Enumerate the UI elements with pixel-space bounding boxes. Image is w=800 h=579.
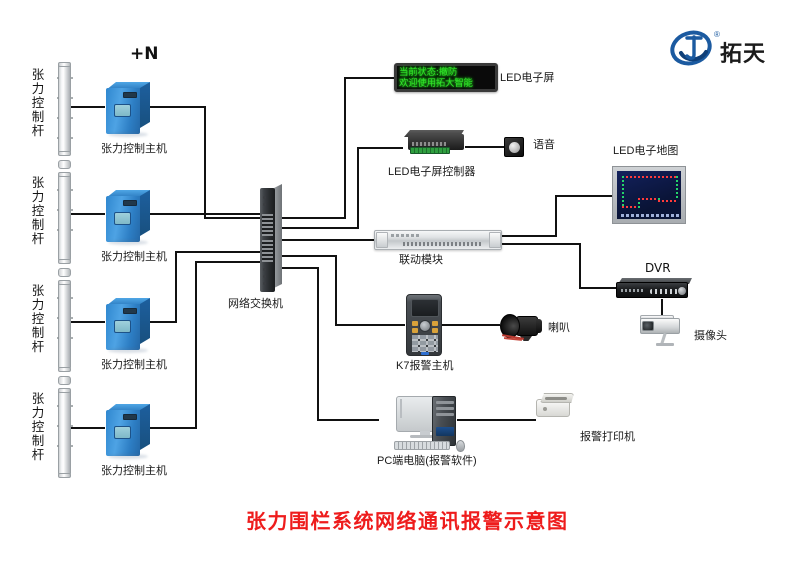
led-electronic-map-icon[interactable] (612, 166, 686, 224)
pole-label-3: 张力控制杆 (30, 284, 43, 354)
controller-label-1: 张力控制主机 (101, 143, 167, 156)
tension-controller-3[interactable] (106, 298, 150, 350)
led-display-screen[interactable]: 当前状态:撤防 欢迎使用拓大智能 (394, 63, 498, 92)
tension-pole-4 (58, 388, 71, 476)
pole-stub-1 (58, 160, 71, 169)
diagram-canvas: 拓天 ® 张力控制杆 张力控制杆 张力控制杆 张力控制杆 +N (0, 0, 800, 579)
linkage-module-icon[interactable] (374, 230, 502, 250)
voice-module-icon[interactable] (504, 137, 524, 157)
tension-controller-2[interactable] (106, 190, 150, 242)
pc-label: PC端电脑(报警软件) (377, 455, 477, 468)
pc-keyboard-icon[interactable] (394, 441, 450, 450)
pc-mouse-icon[interactable] (456, 440, 465, 452)
tension-pole-1 (58, 62, 71, 154)
pole-stub-2 (58, 268, 71, 277)
network-switch-icon[interactable] (260, 184, 282, 292)
printer-label: 报警打印机 (580, 431, 635, 444)
voice-label: 语音 (533, 139, 555, 152)
horn-speaker-icon[interactable] (500, 312, 546, 342)
led-line-1: 当前状态:撤防 (399, 67, 493, 78)
dvr-icon[interactable] (616, 278, 692, 300)
led-screen-label: LED电子屏 (500, 72, 554, 85)
led-screen-controller-icon[interactable] (404, 130, 466, 156)
swoosh-logo-icon (670, 28, 716, 68)
registered-mark: ® (714, 30, 720, 39)
brand-name: 拓天 (720, 36, 766, 68)
tension-controller-4[interactable] (106, 404, 150, 456)
controller-label-2: 张力控制主机 (101, 251, 167, 264)
linkage-module-label: 联动模块 (399, 254, 443, 267)
pc-tower-icon[interactable] (432, 396, 456, 446)
tension-pole-2 (58, 172, 71, 262)
diagram-title: 张力围栏系统网络通讯报警示意图 (246, 505, 569, 534)
controller-label-3: 张力控制主机 (101, 359, 167, 372)
k7-alarm-host-icon[interactable] (406, 294, 442, 356)
pole-label-1: 张力控制杆 (30, 68, 43, 138)
dvr-label: DVR (645, 261, 671, 275)
network-switch-label: 网络交换机 (228, 298, 283, 311)
controller-label-4: 张力控制主机 (101, 465, 167, 478)
tension-pole-3 (58, 280, 71, 370)
pole-stub-3 (58, 376, 71, 385)
pole-label-4: 张力控制杆 (30, 392, 43, 462)
camera-label: 摄像头 (694, 330, 727, 343)
led-line-2: 欢迎使用拓大智能 (399, 78, 493, 89)
camera-icon[interactable] (640, 318, 686, 348)
tension-controller-1[interactable] (106, 82, 150, 134)
k7-alarm-label: K7报警主机 (396, 360, 453, 373)
pole-label-2: 张力控制杆 (30, 176, 43, 246)
brand-logo: 拓天 ® (670, 28, 790, 72)
horn-label: 喇叭 (548, 322, 570, 335)
led-map-label: LED电子地图 (613, 145, 678, 158)
plus-n-annotation: +N (130, 44, 158, 64)
led-controller-label: LED电子屏控制器 (388, 166, 475, 179)
alarm-printer-icon[interactable] (536, 393, 574, 419)
